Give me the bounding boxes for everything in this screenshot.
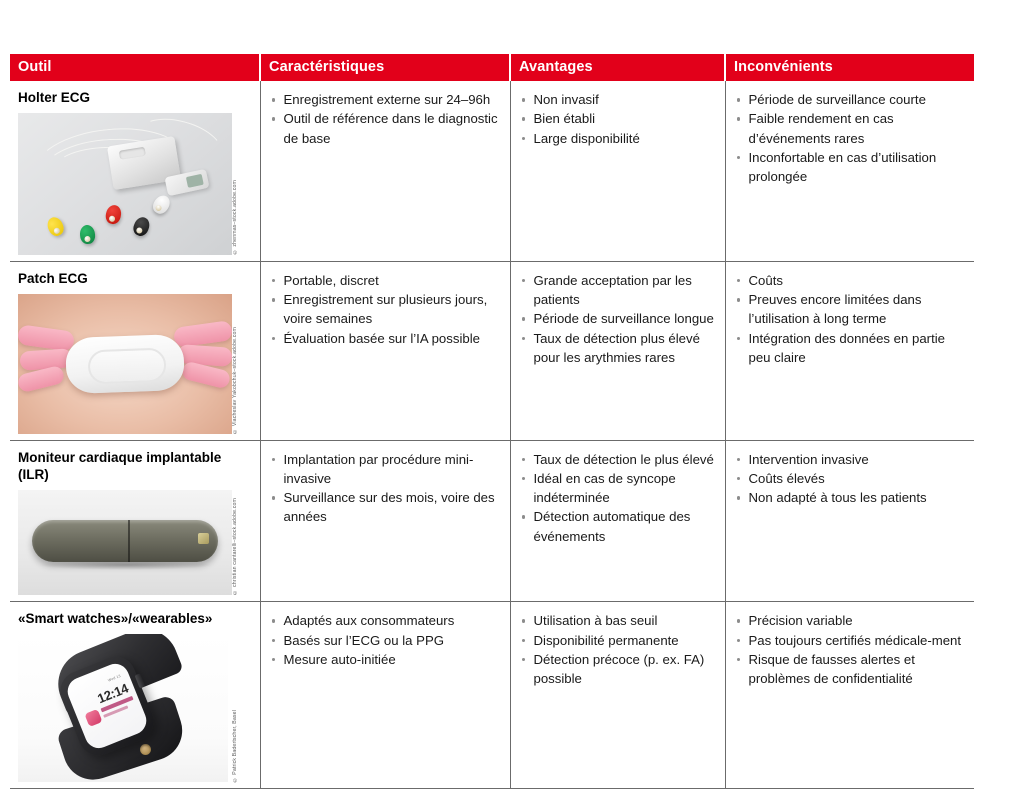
disadvantages-list: Intervention invasive Coûts élevés Non a…: [726, 441, 975, 518]
features-cell: Portable, discret Enregistrement sur plu…: [260, 261, 510, 440]
advantages-list: Utilisation à bas seuil Disponibilité pe…: [511, 602, 725, 698]
electrode-red: [104, 203, 123, 225]
tool-title: Holter ECG: [18, 89, 233, 107]
photo-wrap: Wed 13 12:14 © Patrick Badertsche: [18, 634, 232, 782]
features-cell: Enregistrement externe sur 24–96h Outil …: [260, 81, 510, 261]
list-item: Surveillance sur des mois, voire des ann…: [271, 488, 500, 527]
list-item: Inconfortable en cas d’utilisation prolo…: [736, 148, 965, 187]
list-item: Implantation par procédure mini-invasive: [271, 450, 500, 489]
features-list: Adaptés aux consommateurs Basés sur l’EC…: [261, 602, 510, 679]
electrode-green: [79, 224, 96, 244]
list-item: Coûts: [736, 271, 965, 290]
features-list: Portable, discret Enregistrement sur plu…: [261, 262, 510, 358]
table-row: Holter ECG: [10, 81, 974, 261]
list-item: Évaluation basée sur l’IA possible: [271, 329, 500, 348]
disadvantages-cell: Intervention invasive Coûts élevés Non a…: [725, 440, 974, 602]
features-list: Implantation par procédure mini-invasive…: [261, 441, 510, 537]
list-item: Non adapté à tous les patients: [736, 488, 965, 507]
header-avantages: Avantages: [510, 54, 725, 81]
list-item: Taux de détection le plus élevé: [521, 450, 715, 469]
table-row: Moniteur cardiaque implantable (ILR) © c…: [10, 440, 974, 602]
tool-title: «Smart watches»/«wearables»: [18, 610, 233, 628]
table-row: «Smart watches»/«wearables» Wed 13 12:14: [10, 602, 974, 789]
table-header: Outil Caractéristiques Avantages Inconvé…: [10, 54, 974, 81]
disadvantages-list: Période de surveillance courte Faible re…: [726, 81, 975, 196]
holter-ecg-photo: [18, 113, 232, 255]
list-item: Intégration des données en partie peu cl…: [736, 329, 965, 368]
list-item: Non invasif: [521, 90, 715, 109]
list-item: Risque de fausses alertes et problèmes d…: [736, 650, 965, 689]
list-item: Idéal en cas de syncope indéterminée: [521, 469, 715, 508]
list-item: Adaptés aux consommateurs: [271, 611, 500, 630]
list-item: Période de surveillance courte: [736, 90, 965, 109]
disadvantages-list: Coûts Preuves encore limitées dans l’uti…: [726, 262, 975, 377]
electrode-black: [131, 215, 152, 238]
tool-cell: Holter ECG: [10, 81, 260, 261]
table-header-row: Outil Caractéristiques Avantages Inconvé…: [10, 54, 974, 81]
advantages-cell: Grande acceptation par les patients Péri…: [510, 261, 725, 440]
list-item: Preuves encore limitées dans l’utilisati…: [736, 290, 965, 329]
list-item: Outil de référence dans le diagnostic de…: [271, 109, 500, 148]
list-item: Large disponibilité: [521, 129, 715, 148]
photo-wrap: © zhenmas–stock.adobe.com: [18, 113, 232, 255]
tool-title: Patch ECG: [18, 270, 233, 288]
tool-cell: Moniteur cardiaque implantable (ILR) © c…: [10, 440, 260, 602]
watch-notification-icon: [84, 709, 102, 727]
list-item: Utilisation à bas seuil: [521, 611, 715, 630]
advantages-cell: Taux de détection le plus élevé Idéal en…: [510, 440, 725, 602]
list-item: Disponibilité permanente: [521, 631, 715, 650]
advantages-list: Grande acceptation par les patients Péri…: [511, 262, 725, 377]
smartwatch-photo: Wed 13 12:14: [18, 634, 228, 782]
page-root: Outil Caractéristiques Avantages Inconvé…: [0, 0, 1024, 801]
header-inconvenients: Inconvénients: [725, 54, 974, 81]
list-item: Faible rendement en cas d’événements rar…: [736, 109, 965, 148]
features-list: Enregistrement externe sur 24–96h Outil …: [261, 81, 510, 158]
image-credit: © Patrick Badertscher, Basel: [233, 710, 238, 782]
features-cell: Implantation par procédure mini-invasive…: [260, 440, 510, 602]
list-item: Grande acceptation par les patients: [521, 271, 715, 310]
image-credit: © zhenmas–stock.adobe.com: [233, 180, 238, 254]
table-row: Patch ECG: [10, 261, 974, 440]
implantable-loop-recorder-photo: [18, 490, 232, 595]
header-outil: Outil: [10, 54, 260, 81]
list-item: Basés sur l’ECG ou la PPG: [271, 631, 500, 650]
disadvantages-cell: Coûts Preuves encore limitées dans l’uti…: [725, 261, 974, 440]
patch-ecg-photo: [18, 294, 232, 434]
watch-band-buckle: [140, 744, 151, 755]
ecg-patch-device: [65, 334, 185, 394]
list-item: Portable, discret: [271, 271, 500, 290]
list-item: Détection automatique des événements: [521, 507, 715, 546]
list-item: Enregistrement sur plusieurs jours, voir…: [271, 290, 500, 329]
disadvantages-cell: Précision variable Pas toujours certifié…: [725, 602, 974, 789]
disadvantages-cell: Période de surveillance courte Faible re…: [725, 81, 974, 261]
electrode-yellow: [45, 215, 66, 238]
advantages-cell: Non invasif Bien établi Large disponibil…: [510, 81, 725, 261]
electrode-white: [150, 192, 173, 216]
list-item: Enregistrement externe sur 24–96h: [271, 90, 500, 109]
advantages-cell: Utilisation à bas seuil Disponibilité pe…: [510, 602, 725, 789]
features-cell: Adaptés aux consommateurs Basés sur l’EC…: [260, 602, 510, 789]
image-credit: © Viacheslav Yakobchuk–stock.adobe.com: [233, 327, 238, 434]
list-item: Précision variable: [736, 611, 965, 630]
list-item: Mesure auto-initiée: [271, 650, 500, 669]
list-item: Période de surveillance longue: [521, 309, 715, 328]
loop-recorder-body: [32, 520, 218, 562]
advantages-list: Taux de détection le plus élevé Idéal en…: [511, 441, 725, 556]
tool-title: Moniteur cardiaque implantable (ILR): [18, 449, 233, 485]
image-credit: © christian cantarelli–stock.adobe.com: [233, 498, 238, 595]
disadvantages-list: Précision variable Pas toujours certifié…: [726, 602, 975, 698]
table-body: Holter ECG: [10, 81, 974, 789]
header-caracteristiques: Caractéristiques: [260, 54, 510, 81]
list-item: Détection précoce (p. ex. FA) possible: [521, 650, 715, 689]
tool-cell: «Smart watches»/«wearables» Wed 13 12:14: [10, 602, 260, 789]
comparison-table: Outil Caractéristiques Avantages Inconvé…: [10, 54, 974, 789]
tool-cell: Patch ECG: [10, 261, 260, 440]
list-item: Intervention invasive: [736, 450, 965, 469]
photo-wrap: © Viacheslav Yakobchuk–stock.adobe.com: [18, 294, 232, 434]
advantages-list: Non invasif Bien établi Large disponibil…: [511, 81, 725, 158]
photo-wrap: © christian cantarelli–stock.adobe.com: [18, 490, 232, 595]
list-item: Bien établi: [521, 109, 715, 128]
list-item: Taux de détection plus élevé pour les ar…: [521, 329, 715, 368]
list-item: Coûts élevés: [736, 469, 965, 488]
list-item: Pas toujours certifiés médicale-ment: [736, 631, 965, 650]
